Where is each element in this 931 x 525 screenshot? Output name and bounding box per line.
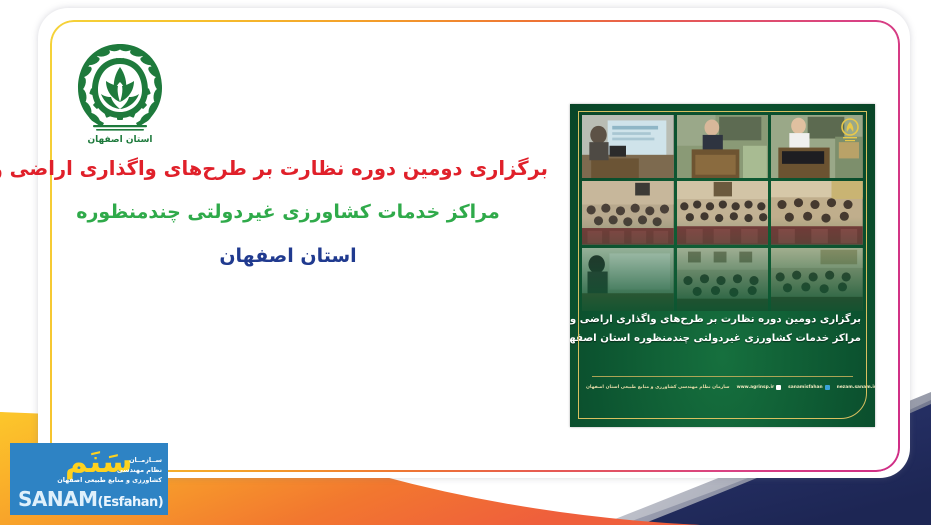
photo-speaker-projector (582, 115, 674, 178)
sanam-english-name: SANAM(Esfahan) (18, 487, 163, 511)
contact-instagram-handle: nezam.sanam.isfahan (837, 385, 875, 390)
agricultural-engineering-organization-logo: استان اصفهان (68, 32, 172, 144)
contact-telegram-handle: sanamisfahan (788, 385, 822, 390)
contact-globe[interactable]: www.agrinsp.ir (737, 385, 782, 390)
photo-speaker-podium (677, 115, 769, 178)
sanam-fa-line-1: ســازمــان (57, 456, 162, 466)
poster-footer: سازمان نظام مهندسی کشاورزی و منابع طبیعی… (586, 385, 859, 390)
photo-audience-right (771, 181, 863, 244)
sanam-en-suffix: (Esfahan) (98, 495, 164, 510)
headline-line-1: برگزاری دومین دوره نظارت بر طرح‌های واگذ… (28, 158, 548, 180)
headline-line-3: استان اصفهان (28, 246, 548, 268)
contact-globe-handle: www.agrinsp.ir (737, 385, 775, 390)
photo-audience-back (771, 248, 863, 311)
photo-female-presenter (582, 248, 674, 311)
sanam-fa-line-3: کشاورزی و منابع طبیعی اصفهان (57, 476, 162, 486)
contact-telegram[interactable]: sanamisfahan (788, 385, 829, 390)
poster-title-line-1: برگزاری دومین دوره نظارت بر طرح‌های واگذ… (584, 310, 861, 329)
sanam-en-main: SANAM (18, 487, 98, 511)
globe-icon (776, 385, 781, 390)
sanam-logo-badge[interactable]: سَنَم ســازمــان نظام مهندسی کشاورزی و م… (10, 443, 168, 515)
poster-title-block: برگزاری دومین دوره نظارت بر طرح‌های واگذ… (584, 310, 861, 349)
sanam-persian-lines: ســازمــان نظام مهندسی کشاورزی و منابع ط… (57, 456, 162, 486)
sanam-fa-line-2: نظام مهندسی (57, 466, 162, 476)
photo-audience-center (677, 181, 769, 244)
org-logo-caption: استان اصفهان (87, 135, 152, 144)
headline-line-2: مراکز خدمات کشاورزی غیردولتی چندمنظوره (28, 202, 548, 224)
slide-canvas: استان اصفهان برگزاری دومین دوره نظارت بر… (0, 0, 931, 525)
contact-instagram[interactable]: nezam.sanam.isfahan (837, 385, 875, 390)
photo-audience-hall (677, 248, 769, 311)
headline-block: برگزاری دومین دوره نظارت بر طرح‌های واگذ… (28, 158, 548, 268)
photo-audience-left (582, 181, 674, 244)
telegram-icon (825, 385, 830, 390)
poster-gold-emblem (839, 117, 861, 143)
poster-title-line-2: مراکز خدمات کشاورزی غیردولتی چندمنظوره ا… (584, 329, 861, 348)
poster-footer-org: سازمان نظام مهندسی کشاورزی و منابع طبیعی… (586, 385, 730, 390)
event-poster[interactable]: برگزاری دومین دوره نظارت بر طرح‌های واگذ… (570, 104, 875, 427)
poster-divider (592, 376, 853, 377)
poster-photo-grid (582, 115, 863, 311)
